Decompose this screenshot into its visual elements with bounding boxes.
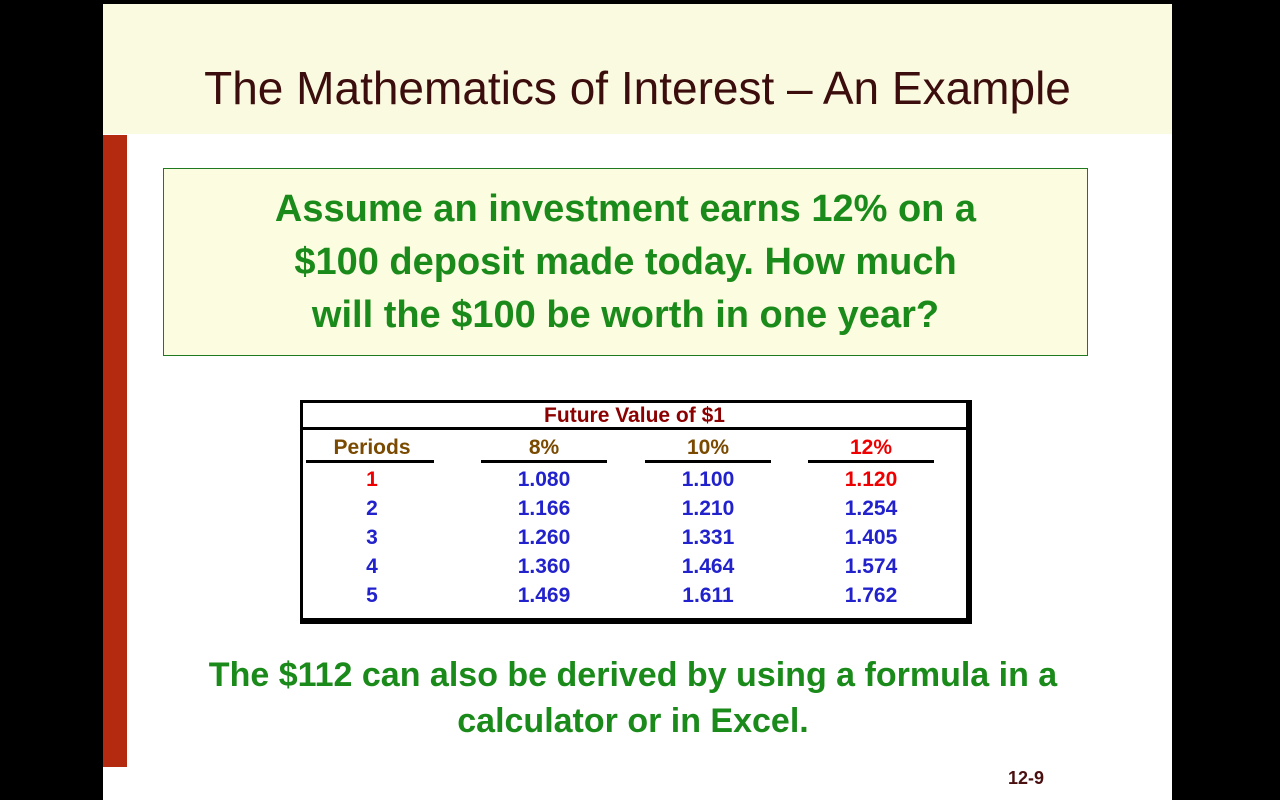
- cell-r2-10pct: 1.210: [645, 494, 771, 523]
- callout-line-3: will the $100 be worth in one year?: [178, 289, 1073, 342]
- bottom-note-line-1: The $112 can also be derived by using a …: [163, 652, 1103, 698]
- future-value-table: Future Value of $1 Periods 8% 10% 12% 1 …: [300, 400, 972, 624]
- slide-number: 12-9: [1008, 768, 1128, 789]
- question-callout-text: Assume an investment earns 12% on a $100…: [178, 183, 1073, 342]
- cell-period-1: 1: [306, 465, 438, 494]
- cell-r3-8pct: 1.260: [481, 523, 607, 552]
- cell-r1-10pct: 1.100: [645, 465, 771, 494]
- cell-r3-12pct: 1.405: [808, 523, 934, 552]
- table-row: 2 1.166 1.210 1.254: [303, 494, 966, 523]
- cell-r5-8pct: 1.469: [481, 581, 607, 610]
- cell-r4-10pct: 1.464: [645, 552, 771, 581]
- cell-period-3: 3: [306, 523, 438, 552]
- cell-r1-8pct: 1.080: [481, 465, 607, 494]
- callout-line-2: $100 deposit made today. How much: [178, 236, 1073, 289]
- table-row: 1 1.080 1.100 1.120: [303, 465, 966, 494]
- cell-r5-10pct: 1.611: [645, 581, 771, 610]
- cell-period-2: 2: [306, 494, 438, 523]
- bottom-note-text: The $112 can also be derived by using a …: [163, 652, 1103, 744]
- cell-period-5: 5: [306, 581, 438, 610]
- cell-r2-8pct: 1.166: [481, 494, 607, 523]
- column-header-8pct: 8%: [481, 433, 607, 462]
- left-accent-bar: [103, 135, 127, 767]
- cell-r3-10pct: 1.331: [645, 523, 771, 552]
- table-header-row: Periods 8% 10% 12%: [303, 433, 966, 462]
- page-title: The Mathematics of Interest – An Example: [103, 62, 1172, 114]
- table-row: 5 1.469 1.611 1.762: [303, 581, 966, 610]
- column-header-10pct: 10%: [645, 433, 771, 462]
- cell-r4-8pct: 1.360: [481, 552, 607, 581]
- question-callout-box: Assume an investment earns 12% on a $100…: [163, 168, 1088, 356]
- cell-r2-12pct: 1.254: [808, 494, 934, 523]
- slide-title-bar: The Mathematics of Interest – An Example: [103, 4, 1172, 134]
- column-header-periods: Periods: [306, 433, 438, 462]
- cell-r4-12pct: 1.574: [808, 552, 934, 581]
- letterbox-background: The Mathematics of Interest – An Example…: [0, 0, 1280, 800]
- column-header-12pct: 12%: [808, 433, 934, 462]
- cell-r1-12pct: 1.120: [808, 465, 934, 494]
- presentation-slide: The Mathematics of Interest – An Example…: [103, 4, 1172, 800]
- bottom-note-line-2: calculator or in Excel.: [163, 698, 1103, 744]
- cell-r5-12pct: 1.762: [808, 581, 934, 610]
- callout-line-1: Assume an investment earns 12% on a: [178, 183, 1073, 236]
- table-row: 4 1.360 1.464 1.574: [303, 552, 966, 581]
- cell-period-4: 4: [306, 552, 438, 581]
- table-title: Future Value of $1: [303, 403, 966, 428]
- table-row: 3 1.260 1.331 1.405: [303, 523, 966, 552]
- table-title-row: Future Value of $1: [303, 403, 966, 430]
